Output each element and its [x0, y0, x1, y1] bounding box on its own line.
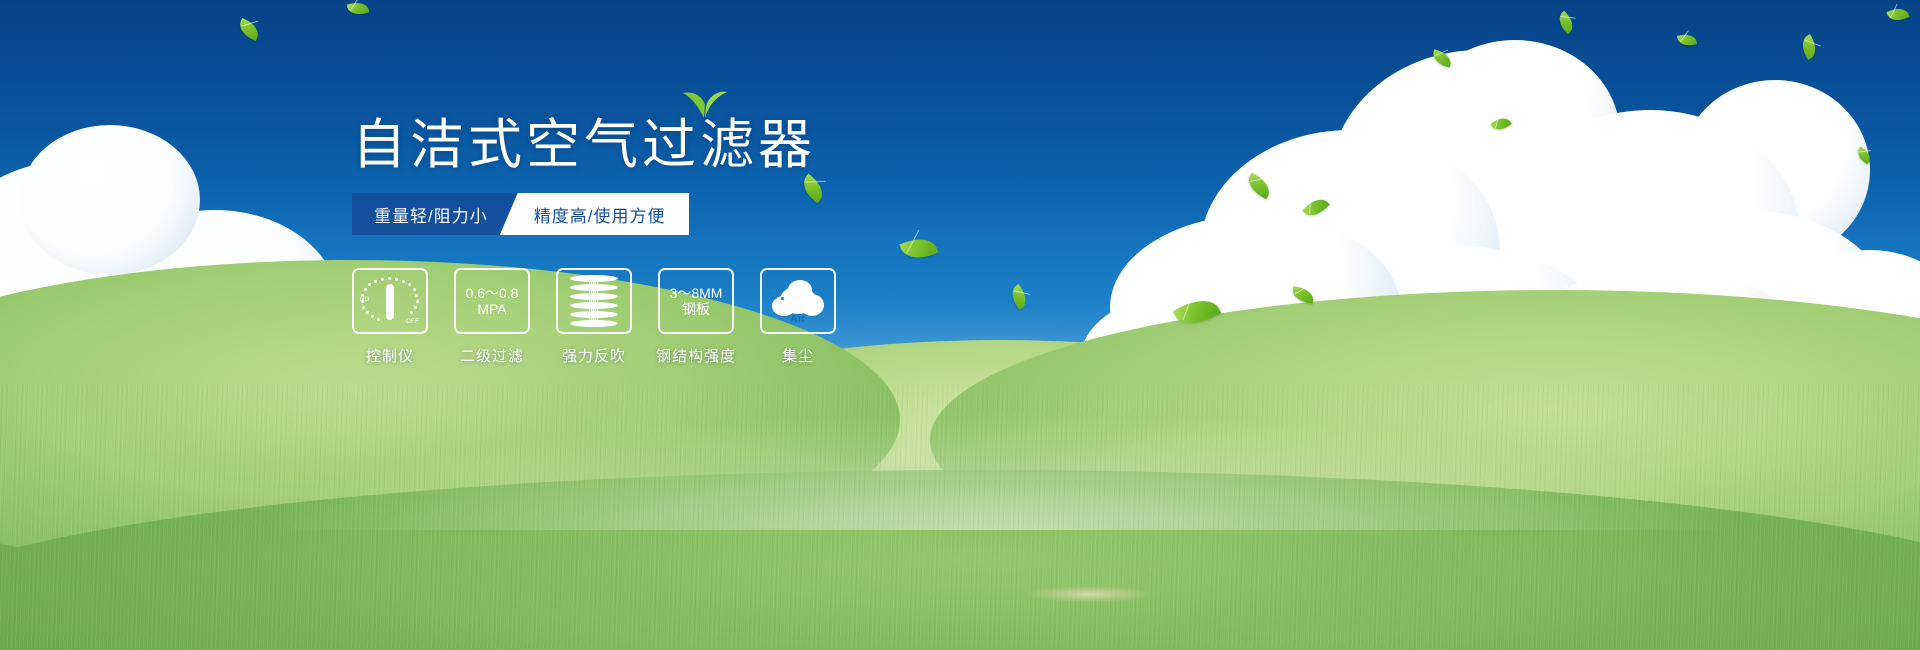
- filter-stack-icon: [570, 275, 618, 327]
- feature-caption: 钢结构强度: [656, 345, 736, 366]
- banner-stage: 自洁式空气过滤器 重量轻/阻力小 精度高/使用方便 NO OFF: [0, 0, 1920, 650]
- feature-caption: 强力反吹: [562, 345, 626, 366]
- steel-thickness-value: 3〜8MM: [670, 285, 723, 301]
- feature-item-control-instrument[interactable]: NO OFF: [352, 268, 428, 366]
- tab-high-precision-easy-use[interactable]: 精度高/使用方便: [500, 193, 690, 235]
- dial-label-off: OFF: [406, 319, 419, 326]
- feature-icon-box: NO OFF: [352, 268, 428, 334]
- pressure-unit: MPA: [477, 301, 506, 317]
- subtitle-tabs: 重量轻/阻力小 精度高/使用方便: [352, 193, 689, 235]
- feature-icon-box: Air: [760, 268, 836, 334]
- feature-item-two-stage-filtration[interactable]: 0.6〜0.8 MPA 二级过滤: [454, 268, 530, 366]
- feature-item-steel-structure-strength[interactable]: 3〜8MM 钢板 钢结构强度: [658, 268, 734, 366]
- dust-particles-icon: [773, 289, 787, 301]
- feature-item-strong-backflush[interactable]: 强力反吹: [556, 268, 632, 366]
- feature-icon-box: 3〜8MM 钢板: [658, 268, 734, 334]
- control-dial-icon: NO OFF: [361, 275, 419, 327]
- feature-caption: 控制仪: [366, 345, 414, 366]
- feature-list: NO OFF: [352, 268, 836, 366]
- feature-caption: 二级过滤: [460, 345, 524, 366]
- air-cloud-icon: Air: [770, 278, 826, 324]
- feature-icon-box: 0.6〜0.8 MPA: [454, 268, 530, 334]
- banner-content: 自洁式空气过滤器 重量轻/阻力小 精度高/使用方便 NO OFF: [0, 0, 1920, 650]
- title-leaf-icon: [682, 88, 728, 118]
- feature-icon-box: [556, 268, 632, 334]
- steel-plate-label: 钢板: [682, 301, 710, 317]
- air-label: Air: [770, 314, 826, 326]
- tab-lightweight-low-resistance[interactable]: 重量轻/阻力小: [352, 193, 518, 235]
- feature-item-dust-collection[interactable]: Air 集尘: [760, 268, 836, 366]
- pressure-range-value: 0.6〜0.8: [466, 285, 519, 301]
- page-title: 自洁式空气过滤器: [352, 116, 816, 175]
- feature-caption: 集尘: [782, 345, 814, 366]
- title-block: 自洁式空气过滤器: [352, 116, 816, 175]
